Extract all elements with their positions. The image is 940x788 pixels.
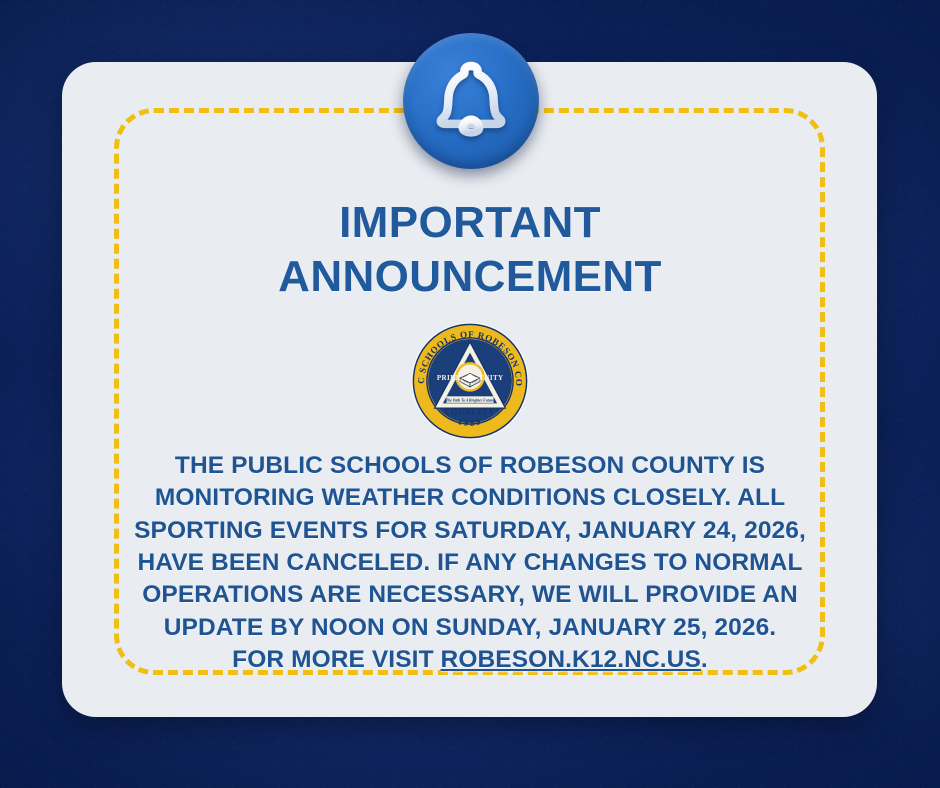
body-line: UPDATE BY NOON ON SUNDAY, JANUARY 25, 20… [0,612,940,644]
visit-prefix: FOR MORE VISIT [232,646,440,673]
body-line: SPORTING EVENTS FOR SATURDAY, JANUARY 24… [0,515,940,547]
bell-icon [432,59,510,143]
body-line: MONITORING WEATHER CONDITIONS CLOSELY. A… [0,482,940,514]
announcement-body: THE PUBLIC SCHOOLS OF ROBESON COUNTY IS … [0,450,940,676]
district-seal: PUBLIC SCHOOLS OF ROBESON COUNTY 1989 [0,322,940,440]
bell-badge [403,33,539,169]
seal-word-equality: EQUALITY [445,408,496,417]
visit-suffix: . [701,646,708,673]
body-line: THE PUBLIC SCHOOLS OF ROBESON COUNTY IS [0,450,940,482]
title-line-2: ANNOUNCEMENT [0,250,940,304]
district-website-link[interactable]: ROBESON.K12.NC.US [441,646,701,673]
seal-word-unity: UNITY [479,374,504,382]
seal-word-pride: PRIDE [437,374,461,382]
body-line: OPERATIONS ARE NECESSARY, WE WILL PROVID… [0,579,940,611]
body-line: HAVE BEEN CANCELED. IF ANY CHANGES TO NO… [0,547,940,579]
body-line-visit: FOR MORE VISIT ROBESON.K12.NC.US. [0,644,940,676]
seal-motto: The Path To A Brighter Future [446,398,494,402]
announcement-poster: IMPORTANT ANNOUNCEMENT PUBLIC SCHOOLS OF… [0,0,940,788]
title-line-1: IMPORTANT [0,196,940,250]
page-title: IMPORTANT ANNOUNCEMENT [0,196,940,303]
